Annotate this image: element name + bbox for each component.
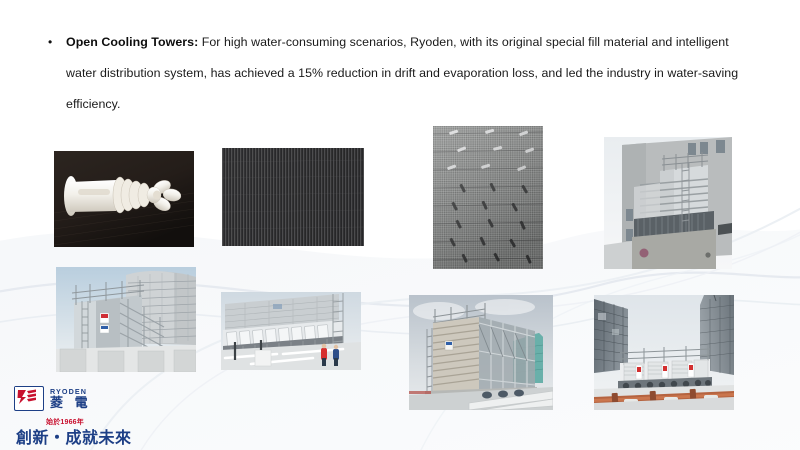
photo-rooftop-tower-highrise-image: [56, 267, 196, 372]
logo-since-text: 始於1966年: [46, 417, 194, 427]
bullet-text-block: • Open Cooling Towers: For high water-co…: [44, 27, 750, 120]
photo-large-tower-green-building: [409, 295, 553, 410]
photo-towers-skyscrapers: [594, 295, 734, 410]
bullet-marker: •: [44, 27, 66, 58]
photo-spray-nozzle: [54, 151, 194, 247]
logo-wordmark: RYODEN 菱 電: [50, 387, 92, 410]
photo-rooftop-tower-louvers-image: [604, 137, 732, 269]
logo-chinese-name: 菱 電: [50, 396, 92, 410]
photo-large-tower-green-building-image: [409, 295, 553, 410]
photo-grey-fill-pack: [433, 126, 543, 269]
photo-dark-fill-media-image: [222, 148, 364, 246]
bullet-paragraph: Open Cooling Towers: For high water-cons…: [66, 27, 750, 120]
bullet-lead-label: Open Cooling Towers:: [66, 35, 198, 49]
presentation-slide: • Open Cooling Towers: For high water-co…: [0, 0, 800, 450]
photo-spray-nozzle-image: [54, 151, 194, 247]
photo-dark-fill-media: [222, 148, 364, 246]
photo-rooftop-tower-louvers: [604, 137, 732, 269]
bullet-item: • Open Cooling Towers: For high water-co…: [44, 27, 750, 120]
photo-tower-bank-workers-image: [221, 292, 361, 370]
ryoden-logo-block: RYODEN 菱 電 始於1966年 創新・成就未來: [14, 386, 194, 448]
photo-rooftop-tower-highrise: [56, 267, 196, 372]
ryoden-logo-mark-icon: [14, 386, 44, 411]
photo-tower-bank-workers: [221, 292, 361, 370]
photo-towers-skyscrapers-image: [594, 295, 734, 410]
logo-row: RYODEN 菱 電: [14, 386, 194, 411]
photo-grey-fill-pack-image: [433, 126, 543, 269]
logo-slogan-text: 創新・成就未來: [16, 429, 194, 448]
